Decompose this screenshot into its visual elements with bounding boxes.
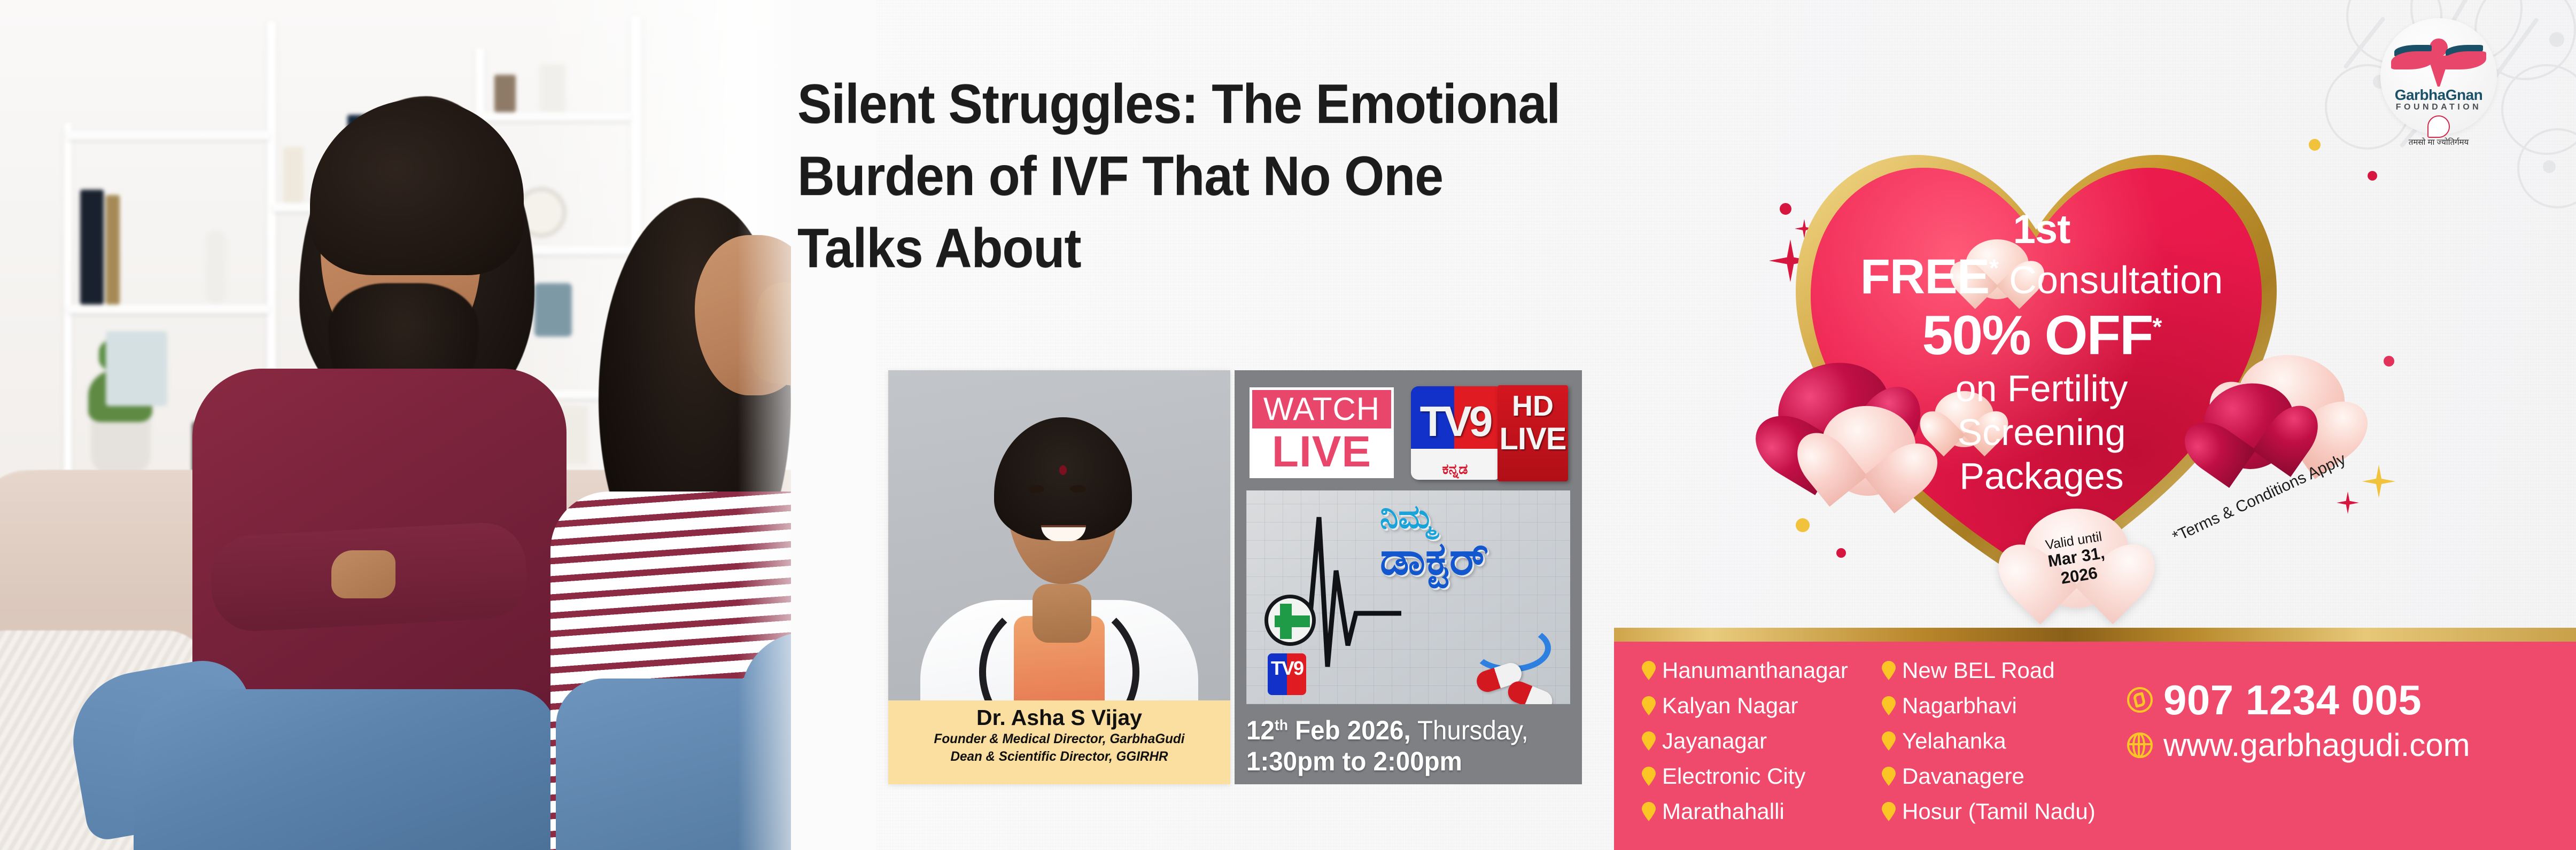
sparkle-icon-3 [2362, 465, 2395, 498]
location-pin-icon [1882, 767, 1896, 786]
contact-footer-panel: Hanumanthanagar New BEL Road Kalyan Naga… [1614, 628, 2576, 850]
broadcast-month-year: Feb 2026, [1288, 715, 1411, 745]
list-item[interactable]: Davanagere [1882, 763, 2112, 789]
list-item[interactable]: Jayanagar [1642, 728, 1872, 754]
show-title-line-2: ಡಾಕ್ಟರ್ [1380, 535, 1562, 583]
show-title-card: ನಿಮ್ಮ ಡಾಕ್ಟರ್ TV9 [1246, 490, 1570, 704]
list-item[interactable]: Hosur (Tamil Nadu) [1882, 799, 2112, 824]
tv9-language-label: ಕನ್ನಡ [1411, 462, 1499, 477]
offer-free-asterisk: * [1989, 254, 1998, 282]
list-item[interactable]: Electronic City [1642, 763, 1872, 789]
sparkle-icon-4 [2337, 492, 2359, 514]
location-label: Jayanagar [1662, 728, 1767, 754]
broadcast-date-line: 12th Feb 2026, Thursday, [1246, 715, 1561, 746]
list-item[interactable]: Kalyan Nagar [1642, 693, 1872, 719]
locations-list: Hanumanthanagar New BEL Road Kalyan Naga… [1642, 658, 2112, 824]
tv9-channel-logo: TV9 ಕನ್ನಡ [1411, 386, 1499, 480]
location-label: Hanumanthanagar [1662, 658, 1848, 683]
broadcast-day-suffix: th [1275, 716, 1288, 733]
list-item[interactable]: New BEL Road [1882, 658, 2112, 683]
headline-line-3: Talks About [797, 213, 1881, 285]
medical-cross-icon [1264, 595, 1316, 646]
watch-label: WATCH [1252, 390, 1391, 428]
logo-book-icon [2427, 56, 2450, 87]
offer-badge: 1st FREE* Consultation 50% OFF* on Ferti… [1764, 150, 2437, 609]
dot-decor-1 [1780, 203, 1791, 215]
tv9-wordmark: TV9 [1411, 400, 1499, 443]
logo-wing-right-icon [2442, 51, 2486, 69]
broadcast-day: 12 [1246, 715, 1275, 745]
phone-icon [2127, 687, 2153, 713]
man-hand [331, 550, 395, 598]
hd-live-badge: HD LIVE [1498, 385, 1568, 481]
location-label: Yelahanka [1902, 728, 2006, 754]
location-label: New BEL Road [1902, 658, 2055, 683]
foundation-motto: तमसो मा ज्योतिर्गमय [2380, 137, 2497, 147]
hd-live-label: LIVE [1498, 423, 1568, 456]
list-item[interactable]: Marathahalli [1642, 799, 1872, 824]
globe-icon [2127, 732, 2153, 758]
location-label: Davanagere [1902, 763, 2024, 789]
location-label: Hosur (Tamil Nadu) [1902, 799, 2096, 824]
list-item[interactable]: Nagarbhavi [1882, 693, 2112, 719]
headline-line-2: Burden of IVF That No One [797, 141, 1881, 213]
offer-free-line: FREE* Consultation [1849, 251, 2234, 303]
broadcast-schedule: 12th Feb 2026, Thursday, 1:30pm to 2:00p… [1246, 715, 1561, 777]
offer-discount-line: 50% OFF* [1849, 307, 2234, 365]
location-pin-icon [1642, 802, 1656, 821]
broadcast-time: 1:30pm to 2:00pm [1246, 746, 1561, 777]
location-label: Marathahalli [1662, 799, 1784, 824]
website-url: www.garbhagudi.com [2163, 729, 2470, 761]
list-item[interactable]: Hanumanthanagar [1642, 658, 1872, 683]
offer-discount-value: 50% OFF [1922, 305, 2153, 366]
location-label: Kalyan Nagar [1662, 693, 1798, 719]
location-pin-icon [1642, 661, 1656, 680]
doctor-role-line-1: Founder & Medical Director, GarbhaGudi [894, 730, 1225, 748]
man-jeans [134, 689, 556, 850]
dot-decor-6 [1796, 518, 1810, 532]
foundation-seal-icon [2427, 115, 2450, 138]
location-pin-icon [1642, 767, 1656, 786]
dot-decor-7 [1836, 548, 1846, 558]
location-pin-icon [1882, 661, 1896, 680]
headline-line-1: Silent Struggles: The Emotional [797, 68, 1881, 141]
doctor-role-line-2: Dean & Scientific Director, GGIRHR [894, 748, 1225, 766]
tv9-corner-logo: TV9 [1268, 653, 1306, 695]
offer-detail-line-1: on Fertility [1849, 368, 2234, 409]
contact-block: 907 1234 005 www.garbhagudi.com [2127, 679, 2555, 770]
doctor-caption: Dr. Asha S Vijay Founder & Medical Direc… [888, 700, 1230, 784]
foundation-name: GarbhaGnan [2380, 87, 2497, 104]
location-label: Nagarbhavi [1902, 693, 2017, 719]
tv-broadcast-panel: WATCH LIVE TV9 ಕನ್ನಡ HD LIVE ನಿಮ್ಮ ಡಾಕ್ಟ… [1235, 370, 1582, 784]
offer-detail-line-3: Packages [1849, 455, 2234, 497]
website-row[interactable]: www.garbhagudi.com [2127, 729, 2555, 761]
dot-decor-4 [2309, 139, 2321, 151]
offer-first: 1st [1849, 208, 2234, 251]
phone-row[interactable]: 907 1234 005 [2127, 679, 2555, 721]
dot-decor-5 [2384, 356, 2394, 366]
show-title-line-1: ನಿಮ್ಮ [1380, 500, 1562, 534]
hd-label: HD [1498, 385, 1568, 423]
watch-live-badge: WATCH LIVE [1250, 387, 1394, 478]
location-label: Electronic City [1662, 763, 1805, 789]
location-pin-icon [1882, 731, 1896, 751]
location-pin-icon [1642, 696, 1656, 715]
bindi-icon [1059, 465, 1067, 475]
logo-wing-left-icon [2391, 51, 2435, 69]
doctor-eye-left [1028, 485, 1044, 493]
location-pin-icon [1642, 731, 1656, 751]
offer-discount-asterisk: * [2153, 313, 2161, 341]
offer-detail-line-2: Screening [1849, 411, 2234, 453]
location-pin-icon [1882, 802, 1896, 821]
gold-divider [1614, 628, 2576, 642]
offer-consultation-word: Consultation [1998, 259, 2223, 302]
foundation-logo: GarbhaGnan FOUNDATION तमसो मा ज्योतिर्गम… [2380, 18, 2497, 135]
show-title: ನಿಮ್ಮ ಡಾಕ್ಟರ್ [1380, 500, 1562, 583]
foundation-subtitle: FOUNDATION [2380, 103, 2497, 112]
doctor-eye-right [1070, 485, 1086, 493]
live-label: LIVE [1252, 428, 1391, 475]
offer-free-word: FREE [1860, 249, 1989, 304]
doctor-name: Dr. Asha S Vijay [888, 705, 1230, 730]
phone-number: 907 1234 005 [2163, 679, 2422, 721]
list-item[interactable]: Yelahanka [1882, 728, 2112, 754]
broadcast-weekday: Thursday, [1411, 715, 1528, 745]
offer-text-block: 1st FREE* Consultation 50% OFF* on Ferti… [1849, 208, 2234, 497]
promotional-banner: Silent Struggles: The Emotional Burden o… [0, 0, 2576, 850]
doctor-card: Dr. Asha S Vijay Founder & Medical Direc… [888, 370, 1230, 784]
page-title: Silent Struggles: The Emotional Burden o… [797, 68, 1881, 285]
location-pin-icon [1882, 696, 1896, 715]
